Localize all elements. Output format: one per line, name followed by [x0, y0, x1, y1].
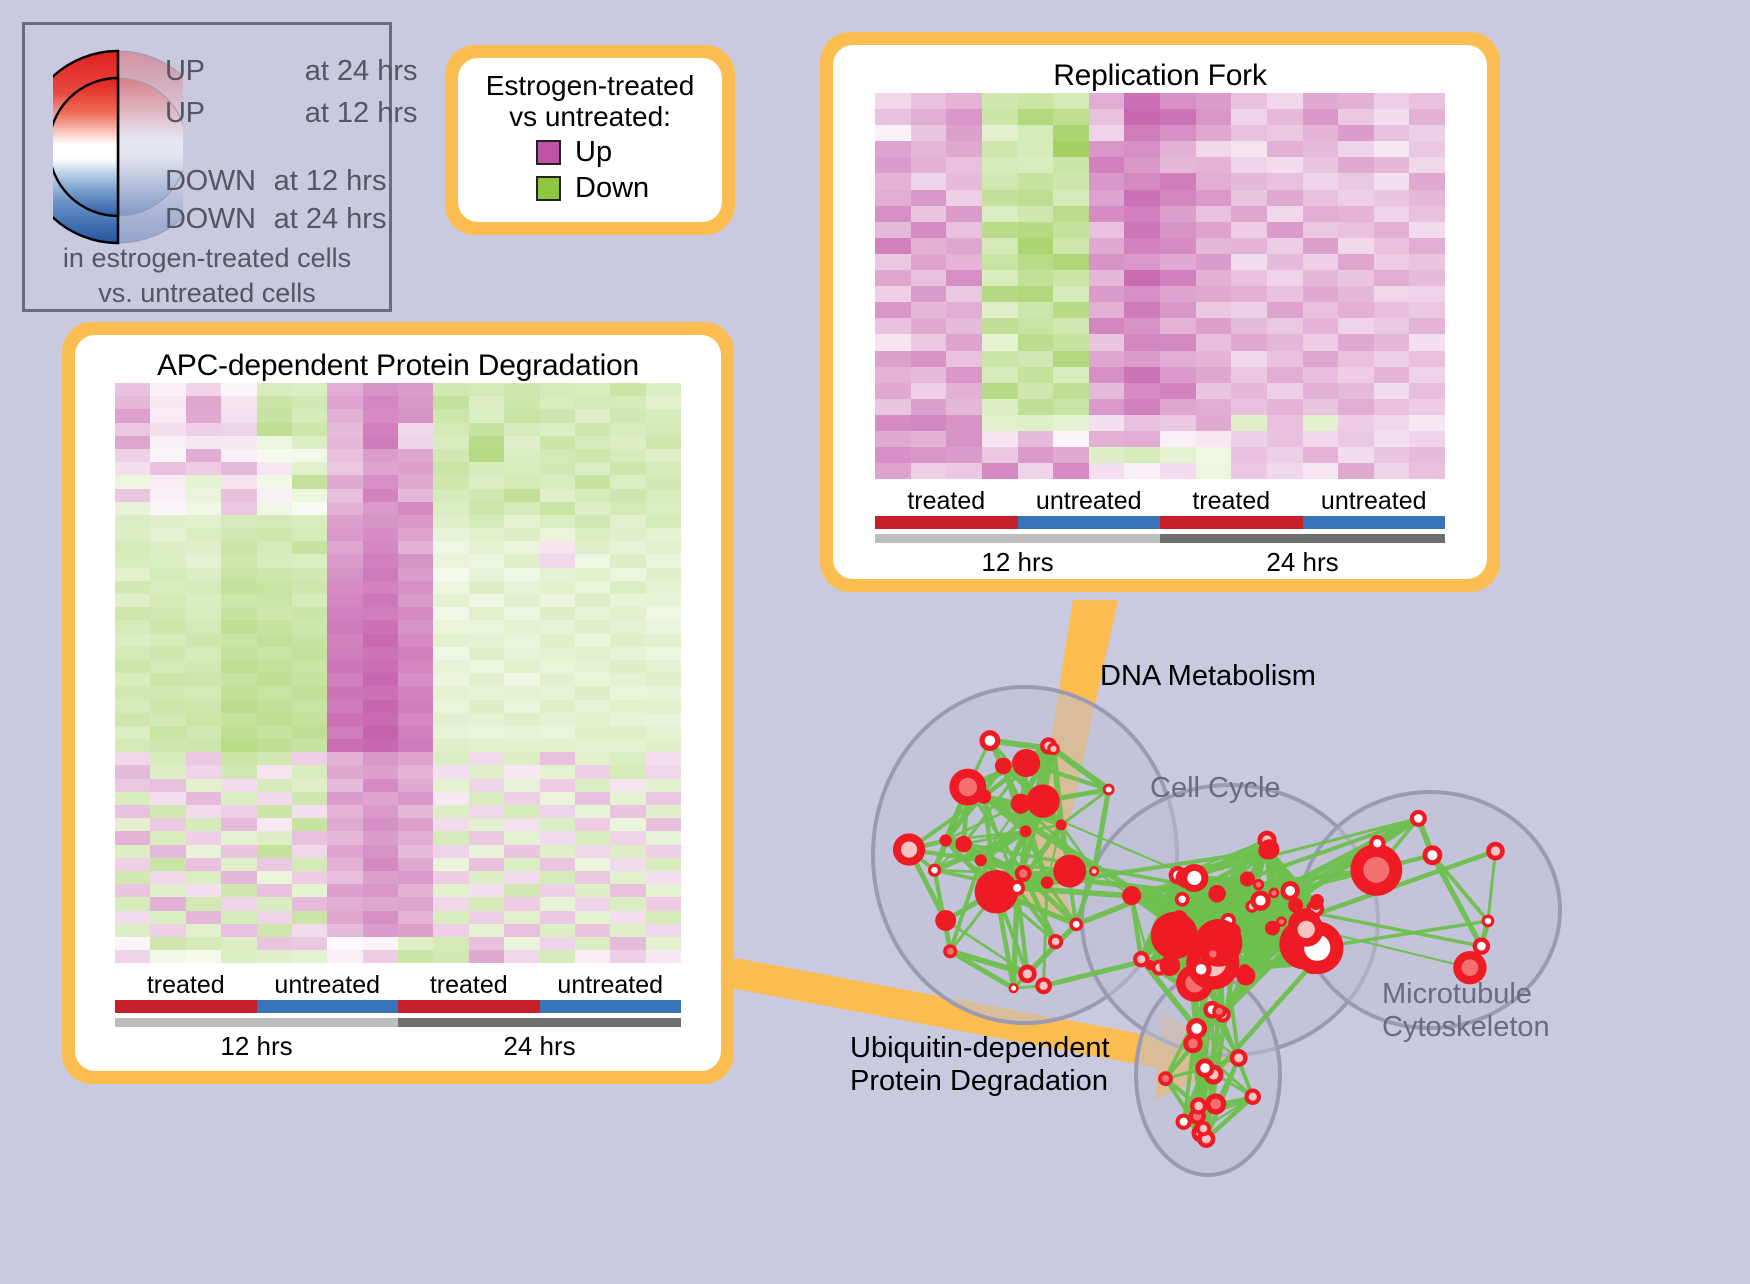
network-graph: [790, 620, 1750, 1279]
heatmap-cell: [150, 713, 185, 726]
network-node[interactable]: [1048, 934, 1063, 949]
network-node[interactable]: [995, 758, 1012, 775]
network-node[interactable]: [893, 833, 925, 865]
heatmap-cell: [150, 752, 185, 765]
heatmap-cell: [221, 805, 256, 818]
heatmap-cell: [946, 415, 982, 431]
heatmap-cell: [646, 739, 681, 752]
network-node[interactable]: [1212, 1004, 1226, 1018]
network-node[interactable]: [1122, 886, 1141, 905]
heatmap-cell: [575, 528, 610, 541]
network-node[interactable]: [939, 834, 951, 846]
heatmap-cell: [186, 436, 221, 449]
heatmap-cell: [646, 700, 681, 713]
heatmap-cell: [1053, 157, 1089, 173]
heatmap-cell: [221, 409, 256, 422]
colorbar-segment: [257, 1000, 399, 1013]
heatmap-cell: [221, 871, 256, 884]
network-node[interactable]: [1020, 825, 1032, 837]
heatmap-cell: [875, 93, 911, 109]
network-node[interactable]: [1053, 855, 1086, 888]
heatmap-cell: [946, 383, 982, 399]
heatmap-cell: [115, 950, 150, 963]
network-node[interactable]: [1350, 844, 1402, 896]
heatmap-cell: [1409, 351, 1445, 367]
heatmap-cell: [1303, 93, 1339, 109]
heatmap-cell: [1231, 399, 1267, 415]
heatmap-cell: [150, 607, 185, 620]
heatmap-cell: [540, 924, 575, 937]
heatmap-cell: [504, 739, 539, 752]
heatmap-cell: [875, 109, 911, 125]
heatmap-cell: [115, 436, 150, 449]
network-node[interactable]: [1145, 960, 1155, 970]
heatmap-cell: [1196, 383, 1232, 399]
heatmap-cell: [469, 752, 504, 765]
legend-title-line2: vs untreated:: [468, 101, 712, 132]
heatmap-cell: [292, 765, 327, 778]
heatmap-cell: [1374, 93, 1410, 109]
heatmap-cell: [115, 528, 150, 541]
heatmap-cell: [363, 489, 398, 502]
heatmap-cell: [1409, 206, 1445, 222]
network-node[interactable]: [1175, 892, 1190, 907]
heatmap-cell: [610, 409, 645, 422]
heatmap-cell: [1160, 238, 1196, 254]
heatmap-cell: [1303, 302, 1339, 318]
heatmap-cell: [875, 431, 911, 447]
heatmap-cell: [646, 502, 681, 515]
network-node[interactable]: [1041, 876, 1054, 889]
heatmap-cell: [1303, 399, 1339, 415]
heatmap-cell: [469, 423, 504, 436]
network-node[interactable]: [1158, 1071, 1173, 1086]
network-node[interactable]: [943, 944, 957, 958]
heatmap-cell: [327, 924, 362, 937]
heatmap-cell: [1089, 109, 1125, 125]
heatmap-cell: [186, 924, 221, 937]
heatmap-cell: [115, 897, 150, 910]
network-node[interactable]: [1089, 866, 1099, 876]
heatmap-cell: [911, 447, 947, 463]
heatmap-cell: [433, 541, 468, 554]
network-node[interactable]: [1186, 1018, 1207, 1039]
heatmap-cell: [398, 396, 433, 409]
heatmap-cell: [1018, 383, 1054, 399]
heatmap-cell: [433, 739, 468, 752]
network-node[interactable]: [935, 910, 956, 931]
heatmap-cell: [363, 462, 398, 475]
heatmap-cell: [469, 515, 504, 528]
heatmap-cell: [1160, 399, 1196, 415]
heatmap-cell: [150, 858, 185, 871]
network-node[interactable]: [1410, 810, 1427, 827]
heatmap-cell: [257, 581, 292, 594]
network-node[interactable]: [1195, 1058, 1214, 1077]
heatmap-cell: [1160, 318, 1196, 334]
network-node[interactable]: [1180, 864, 1208, 892]
network-node[interactable]: [1289, 912, 1324, 947]
heatmap-cell: [150, 792, 185, 805]
heatmap-cell: [1089, 334, 1125, 350]
heatmap-cell: [398, 911, 433, 924]
heatmap-cell: [257, 541, 292, 554]
heatmap-cell: [1338, 157, 1374, 173]
heatmap-cell: [292, 739, 327, 752]
heatmap-cell: [292, 568, 327, 581]
heatmap-cell: [1409, 93, 1445, 109]
heatmap-cell: [982, 302, 1018, 318]
heatmap-cell: [1338, 190, 1374, 206]
heatmap-cell: [1409, 383, 1445, 399]
heatmap-cell: [1160, 447, 1196, 463]
network-node[interactable]: [1240, 871, 1255, 886]
heatmap-cell: [186, 581, 221, 594]
network-node[interactable]: [1009, 880, 1025, 896]
heatmap-cell: [257, 489, 292, 502]
network-node[interactable]: [1047, 743, 1060, 756]
heatmap-cell: [875, 318, 911, 334]
heatmap-cell: [1124, 141, 1160, 157]
heatmap-cell: [1374, 190, 1410, 206]
heatmap-cell: [327, 594, 362, 607]
heatmap-cell: [1231, 206, 1267, 222]
key-label-down-12: DOWN: [165, 165, 256, 198]
heatmap-cell: [1089, 93, 1125, 109]
heatmap-cell: [1053, 173, 1089, 189]
heatmap-cell: [150, 871, 185, 884]
heatmap-cell: [433, 620, 468, 633]
heatmap-cell: [292, 462, 327, 475]
network-node[interactable]: [1259, 839, 1279, 859]
network-node[interactable]: [1018, 965, 1037, 984]
heatmap-cell: [1231, 190, 1267, 206]
heatmap-cell: [363, 581, 398, 594]
heatmap-cell: [646, 673, 681, 686]
time-label-apc-12: 12 hrs: [115, 1031, 398, 1062]
heatmap-cell: [257, 884, 292, 897]
heatmap-cell: [1018, 254, 1054, 270]
network-node[interactable]: [1056, 819, 1067, 830]
heatmap-cell: [257, 700, 292, 713]
heatmap-cell: [221, 884, 256, 897]
heatmap-cell: [575, 396, 610, 409]
heatmap-cell: [875, 206, 911, 222]
heatmap-cell: [221, 739, 256, 752]
heatmap-cell: [257, 502, 292, 515]
network-node[interactable]: [955, 836, 972, 853]
network-node[interactable]: [1280, 881, 1299, 900]
heatmap-cell: [327, 700, 362, 713]
heatmap-cell: [875, 238, 911, 254]
heatmap-cell: [186, 409, 221, 422]
heatmap-cell: [469, 937, 504, 950]
network-node[interactable]: [1011, 794, 1031, 814]
heatmap-cell: [1160, 367, 1196, 383]
key-caption-line1: in estrogen-treated cells: [25, 241, 389, 276]
pathway-network-diagram: DNA Metabolism Cell Cycle Microtubule Cy…: [790, 620, 1750, 1279]
heatmap-cell: [1338, 286, 1374, 302]
network-node[interactable]: [979, 730, 1000, 751]
network-node[interactable]: [1310, 898, 1322, 910]
heatmap-cell: [186, 831, 221, 844]
network-node[interactable]: [1265, 921, 1280, 936]
heatmap-cell: [1267, 270, 1303, 286]
heatmap-cell: [433, 423, 468, 436]
heatmap-cell: [875, 367, 911, 383]
heatmap-cell: [115, 449, 150, 462]
network-node[interactable]: [1069, 917, 1083, 931]
heatmap-cell: [1231, 270, 1267, 286]
heatmap-cell: [1231, 367, 1267, 383]
heatmap-cell: [946, 125, 982, 141]
heatmap-cell: [186, 713, 221, 726]
heatmap-cell: [875, 351, 911, 367]
heatmap-cell: [186, 475, 221, 488]
heatmap-cell: [1124, 270, 1160, 286]
heatmap-cell: [1160, 190, 1196, 206]
heatmap-cell: [504, 475, 539, 488]
network-node[interactable]: [1103, 784, 1115, 796]
heatmap-cell: [221, 489, 256, 502]
heatmap-cell: [1338, 109, 1374, 125]
heatmap-replication-fork: [875, 93, 1445, 479]
heatmap-cell: [1303, 222, 1339, 238]
heatmap-cell: [186, 897, 221, 910]
heatmap-cell: [575, 805, 610, 818]
heatmap-cell: [911, 141, 947, 157]
heatmap-cell: [540, 897, 575, 910]
heatmap-cell: [221, 924, 256, 937]
heatmap-cell: [575, 489, 610, 502]
heatmap-cell: [1231, 447, 1267, 463]
heatmap-cell: [327, 713, 362, 726]
heatmap-cell: [433, 607, 468, 620]
heatmap-cell: [186, 700, 221, 713]
heatmap-cell: [610, 620, 645, 633]
heatmap-cell: [398, 792, 433, 805]
heatmap-cell: [540, 581, 575, 594]
heatmap-cell: [1160, 206, 1196, 222]
network-node[interactable]: [1486, 842, 1505, 861]
heatmap-cell: [1124, 318, 1160, 334]
heatmap-cell: [610, 423, 645, 436]
heatmap-cell: [257, 436, 292, 449]
heatmap-cell: [1018, 367, 1054, 383]
heatmap-cell: [1196, 141, 1232, 157]
heatmap-cell: [575, 765, 610, 778]
heatmap-cell: [186, 765, 221, 778]
time-label-apc-24: 24 hrs: [398, 1031, 681, 1062]
network-node[interactable]: [1190, 1097, 1207, 1114]
network-node[interactable]: [975, 854, 987, 866]
heatmap-cell: [1160, 351, 1196, 367]
heatmap-cell: [1374, 447, 1410, 463]
heatmap-cell: [504, 528, 539, 541]
heatmap-cell: [221, 818, 256, 831]
heatmap-cell: [1160, 254, 1196, 270]
legend-label-up: Up: [575, 136, 612, 169]
heatmap-cell: [646, 818, 681, 831]
heatmap-cell: [1303, 286, 1339, 302]
heatmap-cell: [504, 686, 539, 699]
heatmap-cell: [982, 222, 1018, 238]
heatmap-cell: [1338, 367, 1374, 383]
heatmap-cell: [221, 897, 256, 910]
heatmap-cell: [221, 713, 256, 726]
heatmap-cell: [1231, 431, 1267, 447]
heatmap-cell: [1053, 334, 1089, 350]
network-node[interactable]: [1195, 919, 1243, 967]
heatmap-cell: [398, 436, 433, 449]
heatmap-cell: [327, 502, 362, 515]
network-node[interactable]: [928, 864, 941, 877]
axis-label-rf-1: untreated: [1018, 487, 1161, 516]
heatmap-cell: [911, 383, 947, 399]
heatmap-cell: [504, 924, 539, 937]
heatmap-cell: [1267, 447, 1303, 463]
network-node[interactable]: [1026, 784, 1059, 817]
heatmap-cell: [1303, 318, 1339, 334]
heatmap-cell: [469, 396, 504, 409]
heatmap-cell: [504, 884, 539, 897]
network-node[interactable]: [1015, 865, 1032, 882]
network-node[interactable]: [1176, 1114, 1192, 1130]
heatmap-cell: [1409, 431, 1445, 447]
heatmap-cell: [221, 686, 256, 699]
heatmap-cell: [1196, 206, 1232, 222]
heatmap-cell: [575, 673, 610, 686]
heatmap-cell: [1124, 206, 1160, 222]
heatmap-cell: [610, 594, 645, 607]
heatmap-cell: [1374, 157, 1410, 173]
heatmap-cell: [363, 845, 398, 858]
heatmap-cell: [363, 515, 398, 528]
heatmap-cell: [469, 884, 504, 897]
heatmap-cell: [186, 845, 221, 858]
network-node[interactable]: [1482, 915, 1495, 928]
network-node[interactable]: [1206, 947, 1220, 961]
network-node[interactable]: [1035, 977, 1052, 994]
heatmap-cell: [875, 270, 911, 286]
network-node[interactable]: [976, 789, 991, 804]
heatmap-cell: [911, 351, 947, 367]
heatmap-cell: [1124, 254, 1160, 270]
heatmap-cell: [1231, 302, 1267, 318]
heatmap-cell: [186, 739, 221, 752]
heatmap-cell: [911, 334, 947, 350]
heatmap-cell: [504, 568, 539, 581]
heatmap-cell: [292, 541, 327, 554]
network-node[interactable]: [1008, 983, 1018, 993]
panel-replication-fork: Replication Fork treated untreated treat…: [820, 32, 1500, 592]
network-node[interactable]: [1422, 845, 1442, 865]
heatmap-cell: [1267, 463, 1303, 479]
heatmap-cell: [150, 594, 185, 607]
heatmap-cell: [575, 950, 610, 963]
heatmap-cell: [540, 739, 575, 752]
heatmap-cell: [469, 911, 504, 924]
heatmap-cell: [186, 594, 221, 607]
heatmap-cell: [540, 818, 575, 831]
heatmap-cell: [504, 792, 539, 805]
heatmap-cell: [911, 270, 947, 286]
network-node[interactable]: [1012, 749, 1040, 777]
heatmap-cell: [150, 528, 185, 541]
heatmap-cell: [433, 383, 468, 396]
heatmap-cell: [610, 845, 645, 858]
heatmap-cell: [1267, 93, 1303, 109]
heatmap-cell: [292, 594, 327, 607]
heatmap-cell: [398, 897, 433, 910]
heatmap-cell: [646, 845, 681, 858]
network-node[interactable]: [1369, 835, 1385, 851]
network-node[interactable]: [1250, 890, 1270, 910]
heatmap-cell: [575, 554, 610, 567]
heatmap-cell: [1267, 238, 1303, 254]
heatmap-cell: [1160, 109, 1196, 125]
heatmap-cell: [1409, 157, 1445, 173]
network-node[interactable]: [1230, 1049, 1248, 1067]
heatmap-cell: [1267, 318, 1303, 334]
heatmap-cell: [946, 351, 982, 367]
heatmap-cell: [292, 845, 327, 858]
heatmap-cell: [150, 818, 185, 831]
heatmap-cell: [150, 489, 185, 502]
heatmap-cell: [433, 489, 468, 502]
heatmap-cell: [575, 462, 610, 475]
heatmap-cell: [540, 554, 575, 567]
heatmap-cell: [610, 449, 645, 462]
heatmap-cell: [610, 739, 645, 752]
heatmap-cell: [221, 950, 256, 963]
heatmap-cell: [610, 436, 645, 449]
network-node[interactable]: [1208, 885, 1226, 903]
heatmap-cell: [186, 805, 221, 818]
heatmap-cell: [1124, 447, 1160, 463]
heatmap-cell: [610, 831, 645, 844]
network-node[interactable]: [1151, 912, 1198, 959]
heatmap-cell: [1196, 190, 1232, 206]
heatmap-cell: [875, 157, 911, 173]
heatmap-cell: [221, 541, 256, 554]
heatmap-cell: [398, 620, 433, 633]
heatmap-cell: [292, 871, 327, 884]
heatmap-cell: [1338, 270, 1374, 286]
heatmap-cell: [911, 254, 947, 270]
network-node[interactable]: [1205, 1093, 1226, 1114]
network-node[interactable]: [1244, 1088, 1261, 1105]
heatmap-cell: [115, 884, 150, 897]
heatmap-cell: [1267, 399, 1303, 415]
heatmap-cell: [1089, 399, 1125, 415]
network-node[interactable]: [1269, 888, 1280, 899]
heatmap-cell: [398, 528, 433, 541]
heatmap-cell: [433, 634, 468, 647]
heatmap-cell: [1053, 141, 1089, 157]
heatmap-cell: [257, 911, 292, 924]
network-node[interactable]: [1236, 966, 1255, 985]
heatmap-cell: [1374, 222, 1410, 238]
heatmap-cell: [982, 447, 1018, 463]
network-node[interactable]: [1196, 1121, 1211, 1136]
heatmap-cell: [433, 475, 468, 488]
heatmap-cell: [150, 831, 185, 844]
heatmap-cell: [221, 620, 256, 633]
heatmap-cell: [1124, 93, 1160, 109]
heatmap-cell: [1124, 383, 1160, 399]
heatmap-cell: [1018, 141, 1054, 157]
